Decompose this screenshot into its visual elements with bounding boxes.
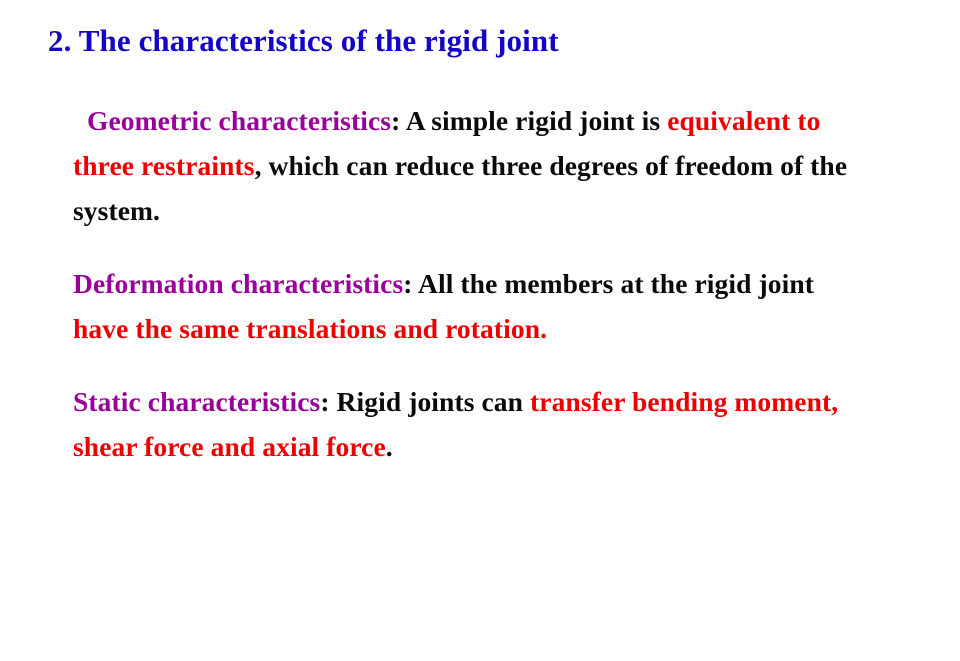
- deformation-text-1: : All the members at the rigid joint: [403, 268, 814, 299]
- heading-deformation-characteristics: Deformation characteristics: [73, 268, 403, 299]
- static-text-2: .: [386, 431, 393, 462]
- paragraph-geometric: Geometric characteristics: A simple rigi…: [73, 98, 873, 233]
- slide-body: Geometric characteristics: A simple rigi…: [73, 98, 873, 469]
- page-title: 2. The characteristics of the rigid join…: [48, 22, 559, 61]
- slide-canvas: 2. The characteristics of the rigid join…: [0, 0, 960, 661]
- static-text-1: : Rigid joints can: [320, 386, 530, 417]
- heading-geometric-characteristics: Geometric characteristics: [87, 105, 391, 136]
- heading-static-characteristics: Static characteristics: [73, 386, 320, 417]
- paragraph-static: Static characteristics: Rigid joints can…: [73, 379, 873, 469]
- deformation-emphasis-translations: have the same translations and rotation.: [73, 313, 547, 344]
- geometric-text-1: : A simple rigid joint is: [391, 105, 667, 136]
- paragraph-deformation: Deformation characteristics: All the mem…: [73, 261, 873, 351]
